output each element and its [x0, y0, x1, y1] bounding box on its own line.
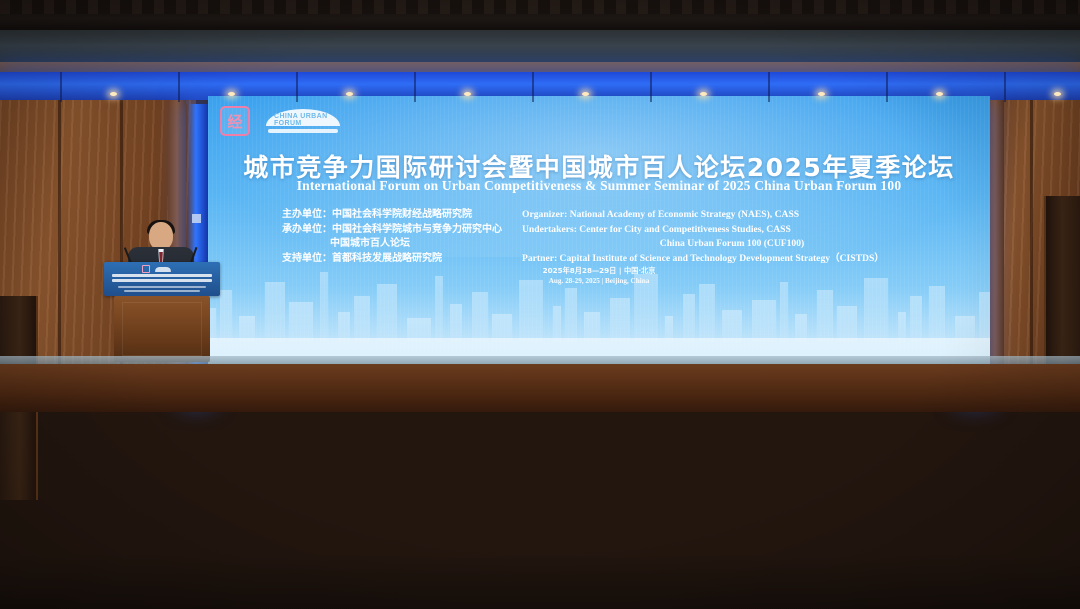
- event-date-block: 2025年8月28—29日 | 中国·北京 Aug. 28-29, 2025 |…: [208, 266, 990, 286]
- soffit-seam: [296, 72, 298, 102]
- soffit-seam: [60, 72, 62, 102]
- lectern-sign-title-line: [112, 274, 212, 277]
- ceiling-downlight: [228, 92, 235, 96]
- soffit-seam: [650, 72, 652, 102]
- lectern-sign-logos: [142, 265, 171, 273]
- urban-forum-emblem-icon: [155, 267, 171, 272]
- event-date-chinese: 2025年8月28—29日 | 中国·北京: [208, 266, 990, 276]
- soffit-seam: [532, 72, 534, 102]
- credit-line-en: Organizer: National Academy of Economic …: [522, 208, 942, 223]
- credit-line-en: Undertakers: Center for City and Competi…: [522, 223, 942, 238]
- ceiling-downlight: [1054, 92, 1061, 96]
- lectern-sign-sub-line: [118, 286, 206, 288]
- ceiling-downlight: [936, 92, 943, 96]
- soffit-seam: [886, 72, 888, 102]
- ceiling-ribs: [0, 0, 1080, 14]
- credit-line-en: Partner: Capital Institute of Science an…: [522, 252, 942, 267]
- credits-chinese: 主办单位：中国社会科学院财经战略研究院 承办单位：中国社会科学院城市与竞争力研究…: [282, 208, 512, 266]
- soffit-seam: [178, 72, 180, 102]
- ceiling-dark-band: [0, 30, 1080, 64]
- urban-forum-emblem: CHINA URBAN FORUM: [266, 108, 340, 134]
- conference-hall-photo: 经 CHINA URBAN FORUM 城市竞争力国际研讨会暨中国城市百人论坛2…: [0, 0, 1080, 609]
- jing-seal-icon: [142, 265, 150, 273]
- forum-title-english: International Forum on Urban Competitive…: [208, 178, 990, 194]
- speaker-head: [149, 222, 173, 250]
- ceiling-downlight: [582, 92, 589, 96]
- screen-logo-row: 经 CHINA URBAN FORUM: [220, 106, 340, 136]
- emblem-label: CHINA URBAN FORUM: [274, 113, 340, 127]
- credits-english: Organizer: National Academy of Economic …: [522, 208, 942, 266]
- foreground-shadow: [0, 553, 1080, 609]
- credit-line-cn: 承办单位：中国社会科学院城市与竞争力研究中心: [282, 223, 512, 238]
- credits-block: 主办单位：中国社会科学院财经战略研究院 承办单位：中国社会科学院城市与竞争力研究…: [282, 208, 942, 266]
- event-date-english: Aug. 28-29, 2025 | Beijing, China: [208, 276, 990, 286]
- ceiling-downlight: [700, 92, 707, 96]
- credit-line-cn: 主办单位：中国社会科学院财经战略研究院: [282, 208, 512, 223]
- ceiling-downlight: [346, 92, 353, 96]
- soffit-seam: [414, 72, 416, 102]
- credit-line-cn: 中国城市百人论坛: [282, 237, 512, 252]
- jing-seal-logo: 经: [220, 106, 250, 136]
- credit-line-cn: 支持单位：首都科技发展战略研究院: [282, 252, 512, 267]
- soffit-seam: [768, 72, 770, 102]
- emblem-bar: [268, 129, 338, 133]
- soffit-seam: [1004, 72, 1006, 102]
- lectern-sign-sub-line: [124, 290, 200, 292]
- ceiling-downlight: [818, 92, 825, 96]
- ceiling-downlight: [110, 92, 117, 96]
- ceiling-downlight: [464, 92, 471, 96]
- credit-line-en: China Urban Forum 100 (CUF100): [522, 237, 942, 252]
- lectern-sign-title-line: [112, 279, 212, 282]
- lectern-sign: [104, 262, 220, 296]
- led-presentation-screen: 经 CHINA URBAN FORUM 城市竞争力国际研讨会暨中国城市百人论坛2…: [208, 96, 990, 364]
- ceiling: [0, 0, 1080, 34]
